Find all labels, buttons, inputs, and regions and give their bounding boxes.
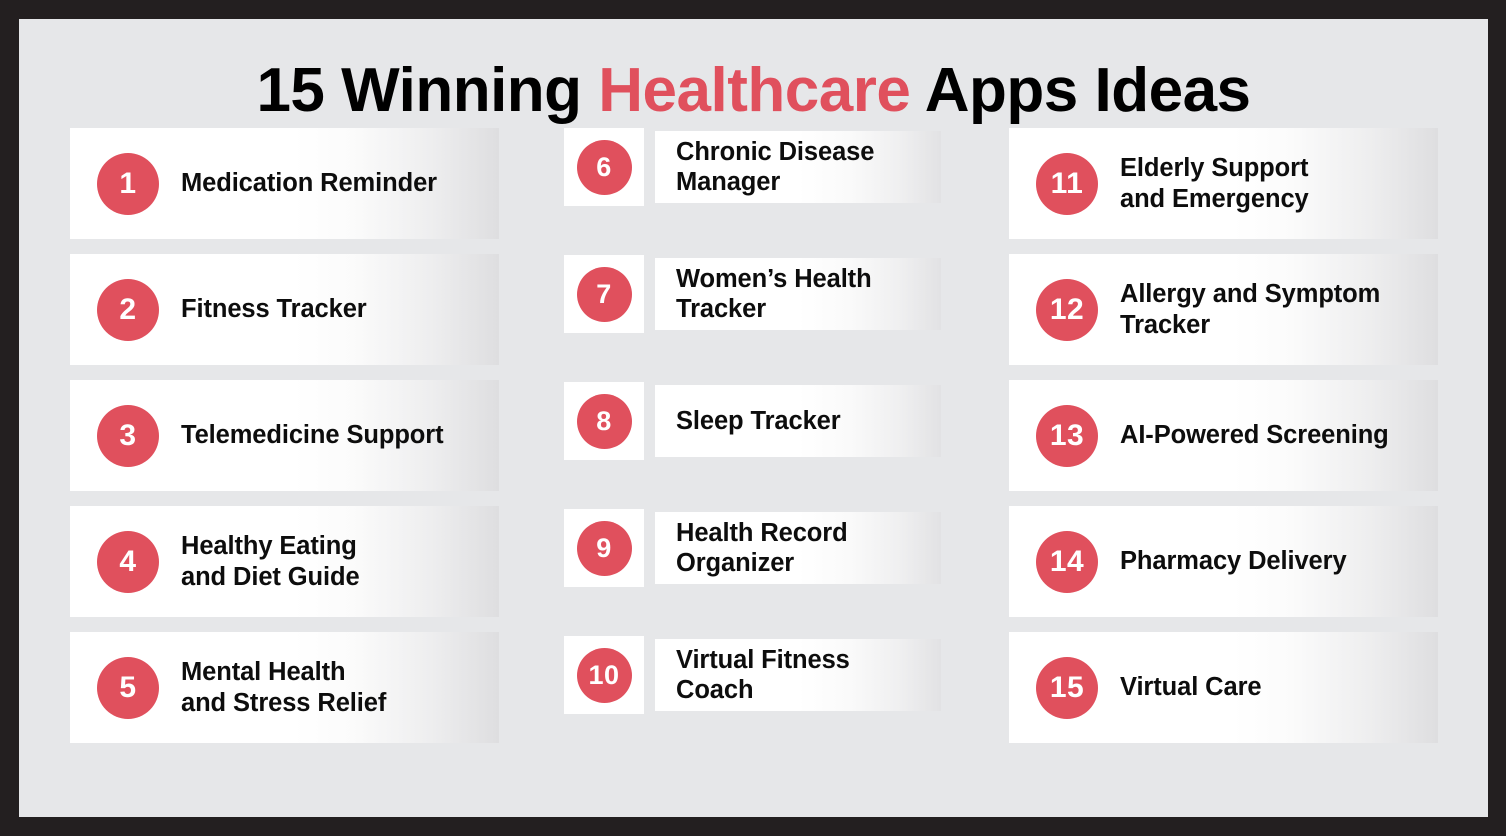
idea-number-badge: 14 (1036, 531, 1098, 593)
page-title: 15 Winning Healthcare Apps Ideas (19, 55, 1488, 126)
idea-card[interactable]: 11 Elderly Support and Emergency (1009, 128, 1438, 239)
idea-number-box: 9 (564, 509, 644, 587)
idea-label-panel: Chronic Disease Manager (655, 131, 941, 203)
idea-card[interactable]: 12 Allergy and Symptom Tracker (1009, 254, 1438, 365)
idea-columns: 1 Medication Reminder 2 Fitness Tracker … (19, 128, 1488, 768)
idea-card[interactable]: 8 Sleep Tracker (564, 382, 941, 460)
idea-label: Sleep Tracker (676, 406, 841, 436)
idea-card[interactable]: 7 Women’s Health Tracker (564, 255, 941, 333)
idea-label-panel: Sleep Tracker (655, 385, 941, 457)
idea-label: Women’s Health Tracker (676, 264, 872, 325)
idea-card[interactable]: 13 AI-Powered Screening (1009, 380, 1438, 491)
idea-card[interactable]: 10 Virtual Fitness Coach (564, 636, 941, 714)
idea-label: Medication Reminder (181, 168, 437, 198)
idea-number-box: 7 (564, 255, 644, 333)
idea-number-badge: 9 (577, 521, 632, 576)
idea-number-badge: 6 (577, 140, 632, 195)
idea-card[interactable]: 1 Medication Reminder (70, 128, 499, 239)
idea-number-badge: 2 (97, 279, 159, 341)
title-part-1: 15 Winning (256, 56, 598, 125)
idea-column-2: 6 Chronic Disease Manager 7 Women’s Heal… (564, 128, 941, 763)
idea-column-3: 11 Elderly Support and Emergency 12 Alle… (1009, 128, 1438, 758)
idea-card[interactable]: 3 Telemedicine Support (70, 380, 499, 491)
idea-label-panel: Women’s Health Tracker (655, 258, 941, 330)
idea-label: Fitness Tracker (181, 294, 367, 324)
idea-label: Healthy Eating and Diet Guide (181, 531, 360, 592)
idea-card[interactable]: 4 Healthy Eating and Diet Guide (70, 506, 499, 617)
title-accent-word: Healthcare (598, 56, 910, 125)
idea-label: Virtual Care (1120, 672, 1261, 702)
idea-number-badge: 7 (577, 267, 632, 322)
idea-label: Health Record Organizer (676, 518, 848, 579)
idea-number-badge: 3 (97, 405, 159, 467)
idea-label: Pharmacy Delivery (1120, 546, 1347, 576)
infographic-frame: 15 Winning Healthcare Apps Ideas 1 Medic… (19, 19, 1488, 817)
idea-number-badge: 1 (97, 153, 159, 215)
idea-label: Chronic Disease Manager (676, 137, 874, 198)
idea-number-badge: 10 (577, 648, 632, 703)
title-part-2: Apps Ideas (910, 56, 1250, 125)
idea-card[interactable]: 9 Health Record Organizer (564, 509, 941, 587)
idea-card[interactable]: 6 Chronic Disease Manager (564, 128, 941, 206)
idea-number-box: 6 (564, 128, 644, 206)
idea-label: Elderly Support and Emergency (1120, 153, 1309, 214)
idea-label: AI-Powered Screening (1120, 420, 1389, 450)
idea-label-panel: Virtual Fitness Coach (655, 639, 941, 711)
idea-number-badge: 5 (97, 657, 159, 719)
idea-number-badge: 4 (97, 531, 159, 593)
idea-column-1: 1 Medication Reminder 2 Fitness Tracker … (70, 128, 499, 758)
idea-number-badge: 12 (1036, 279, 1098, 341)
idea-card[interactable]: 15 Virtual Care (1009, 632, 1438, 743)
idea-label: Allergy and Symptom Tracker (1120, 279, 1380, 340)
idea-label: Telemedicine Support (181, 420, 444, 450)
idea-label: Mental Health and Stress Relief (181, 657, 386, 718)
idea-card[interactable]: 2 Fitness Tracker (70, 254, 499, 365)
idea-number-box: 8 (564, 382, 644, 460)
idea-number-badge: 8 (577, 394, 632, 449)
idea-number-badge: 15 (1036, 657, 1098, 719)
idea-number-badge: 11 (1036, 153, 1098, 215)
idea-label: Virtual Fitness Coach (676, 645, 850, 706)
idea-label-panel: Health Record Organizer (655, 512, 941, 584)
idea-number-box: 10 (564, 636, 644, 714)
idea-card[interactable]: 5 Mental Health and Stress Relief (70, 632, 499, 743)
idea-number-badge: 13 (1036, 405, 1098, 467)
idea-card[interactable]: 14 Pharmacy Delivery (1009, 506, 1438, 617)
